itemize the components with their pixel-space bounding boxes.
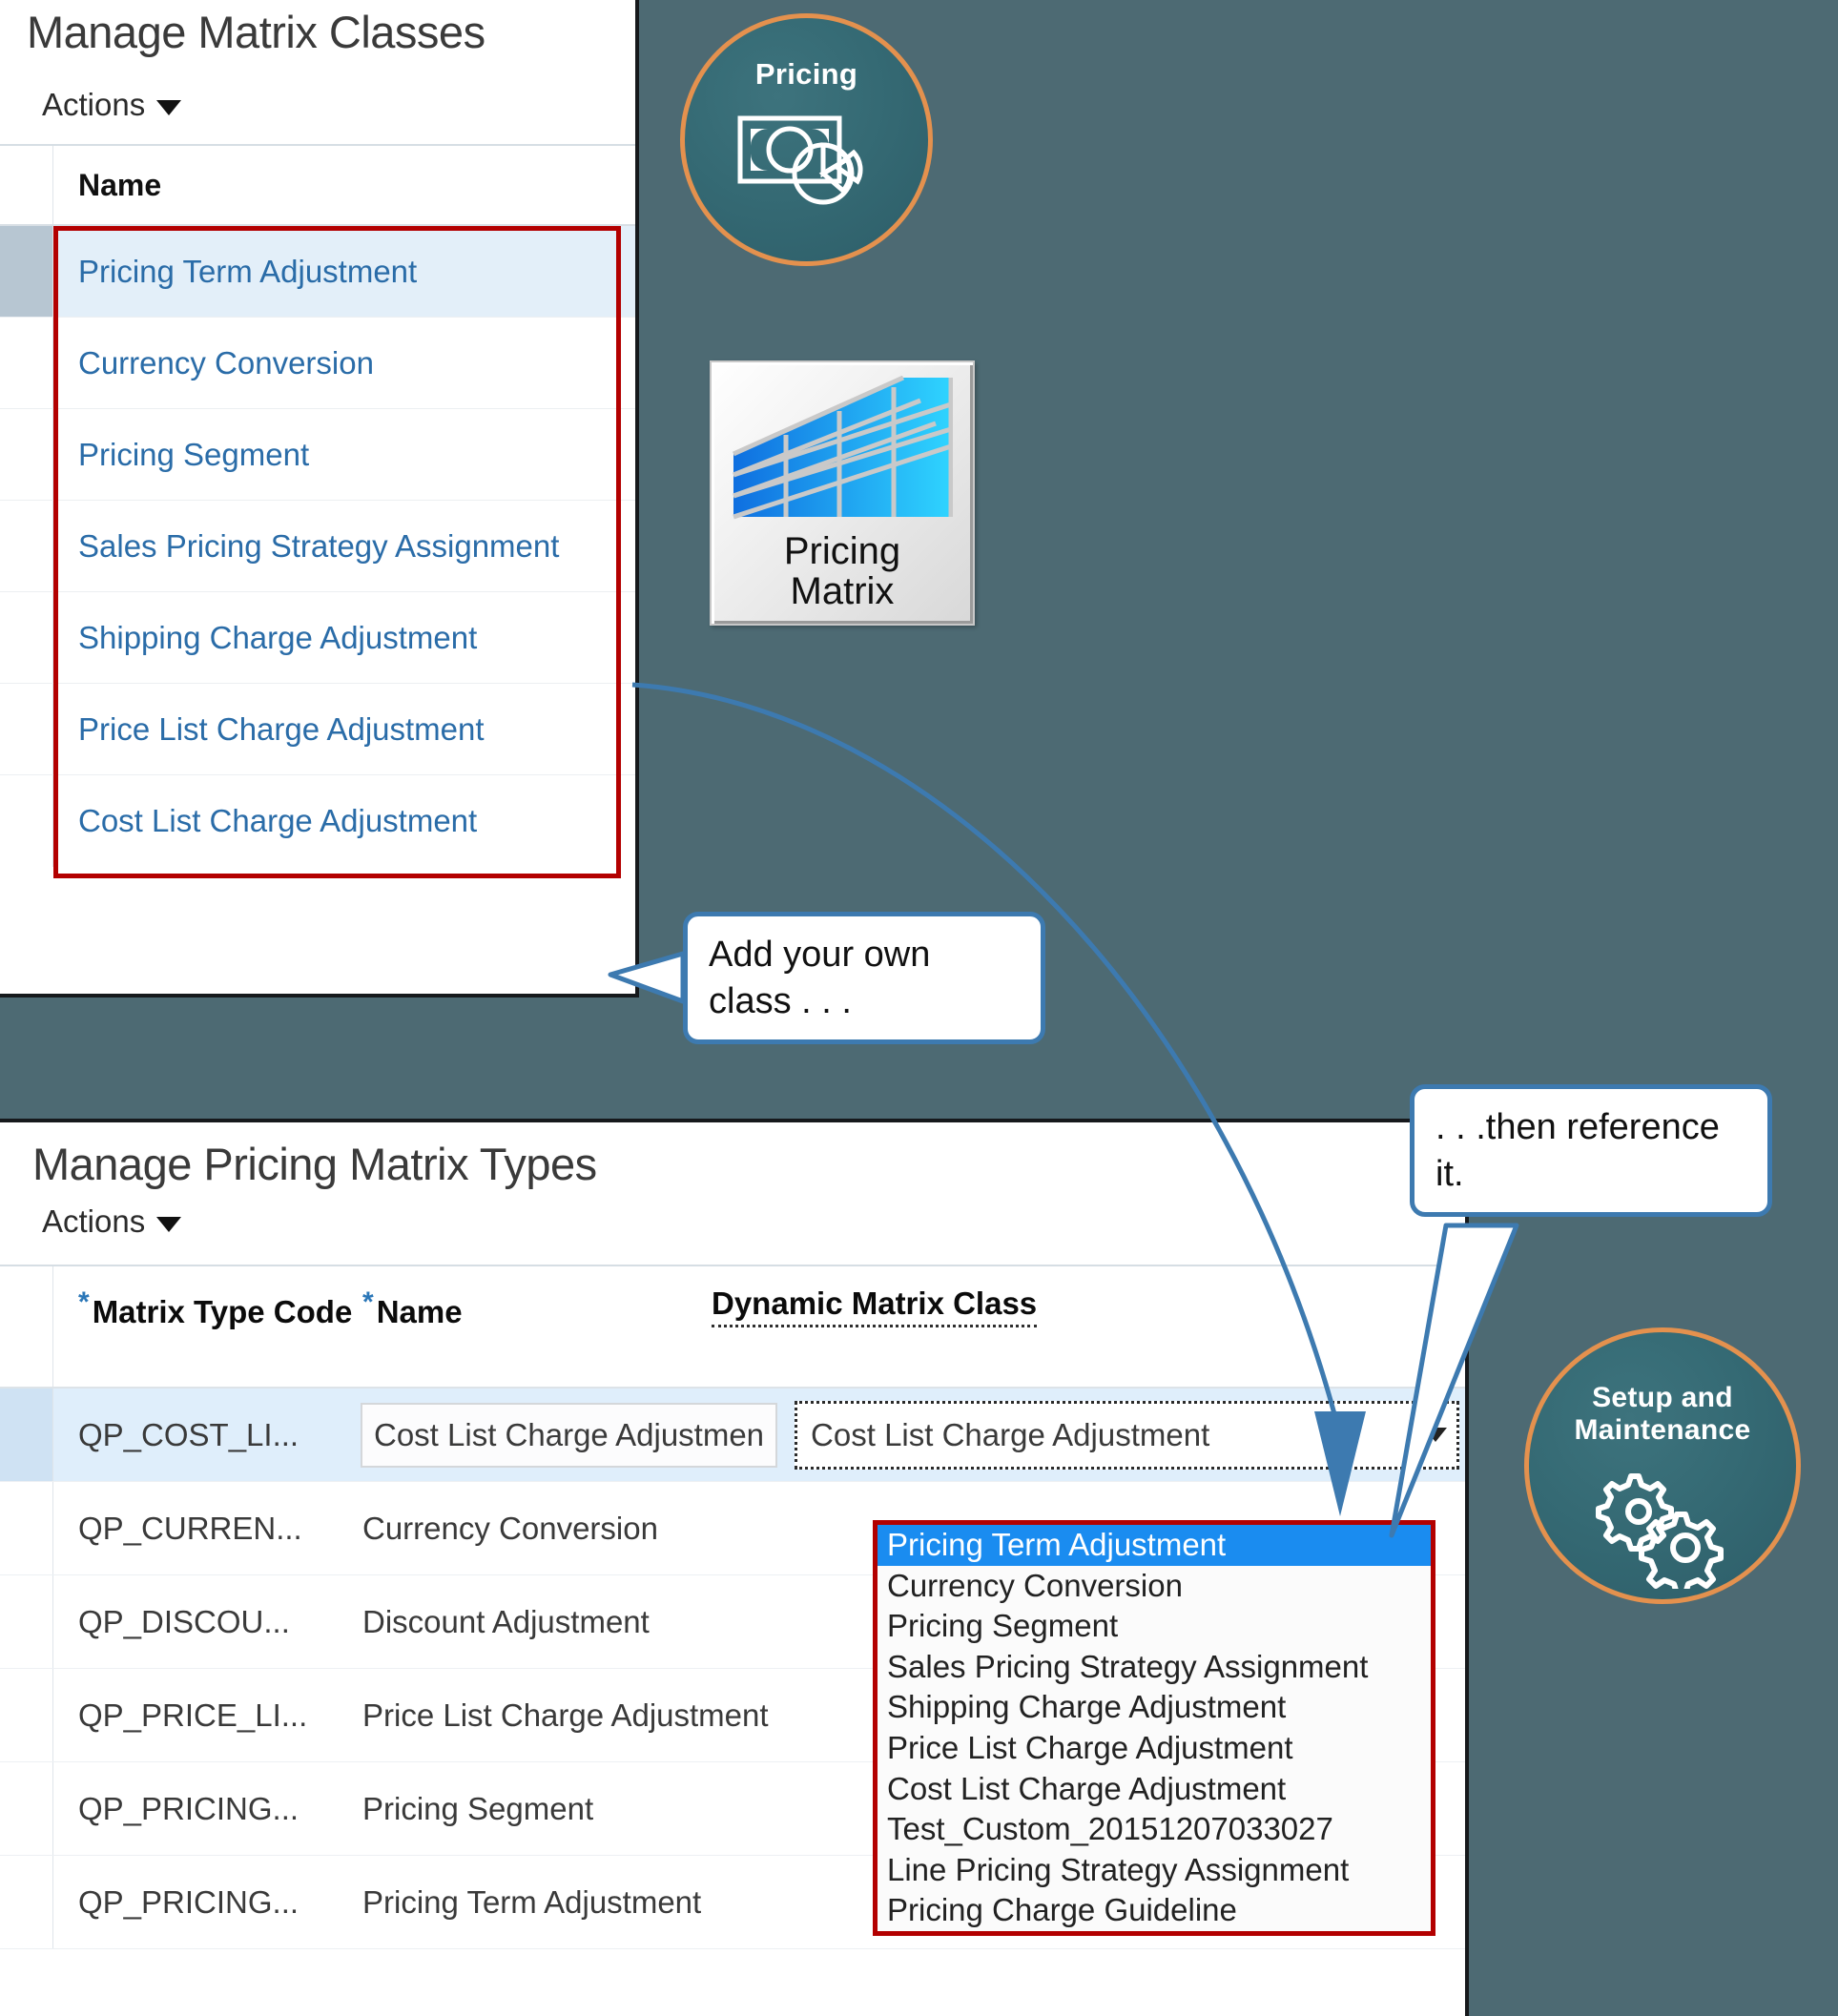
classes-table-header-row: Name	[0, 146, 635, 226]
dropdown-option[interactable]: Price List Charge Adjustment	[878, 1728, 1431, 1769]
table-row[interactable]: Currency Conversion	[0, 318, 635, 409]
required-asterisk-icon: *	[78, 1286, 90, 1318]
types-column-header-name: *Name	[355, 1266, 696, 1329]
dropdown-option[interactable]: Sales Pricing Strategy Assignment	[878, 1647, 1431, 1688]
table-row[interactable]: Sales Pricing Strategy Assignment	[0, 501, 635, 592]
classes-page-title: Manage Matrix Classes	[0, 0, 635, 58]
name-cell: Pricing Term Adjustment	[355, 1884, 701, 1921]
class-name-link[interactable]: Pricing Segment	[53, 437, 309, 473]
dropdown-option[interactable]: Test_Custom_20151207033027	[878, 1809, 1431, 1850]
name-cell: Currency Conversion	[355, 1511, 696, 1547]
money-pie-chart-icon	[735, 105, 878, 215]
matrix-type-code-cell: QP_PRICING...	[53, 1884, 355, 1921]
row-select-gutter[interactable]	[0, 226, 53, 317]
chevron-down-icon	[156, 1217, 181, 1232]
setup-and-maintenance-badge[interactable]: Setup and Maintenance	[1524, 1327, 1801, 1604]
table-row[interactable]: Price List Charge Adjustment	[0, 684, 635, 775]
name-cell: Price List Charge Adjustment	[355, 1697, 769, 1734]
dropdown-option[interactable]: Pricing Term Adjustment	[878, 1525, 1431, 1566]
classes-actions-label: Actions	[42, 87, 145, 123]
pricing-badge-label: Pricing	[755, 58, 857, 92]
types-actions-menu[interactable]: Actions	[0, 1190, 1465, 1240]
screenshot-canvas: Manage Matrix Classes Actions Name Prici…	[0, 0, 1838, 2016]
dynamic-matrix-class-wrapper: Cost List Charge Adjustment	[783, 1401, 1465, 1470]
matrix-type-code-cell: QP_PRICE_LI...	[53, 1697, 355, 1734]
row-select-gutter[interactable]	[0, 501, 53, 591]
gears-icon	[1586, 1455, 1739, 1594]
name-cell: Pricing Segment	[355, 1791, 696, 1827]
dynamic-matrix-class-dropdown[interactable]: Pricing Term Adjustment Currency Convers…	[873, 1520, 1435, 1936]
table-row[interactable]: QP_COST_LI... Cost List Charge Adjustmen…	[0, 1389, 1465, 1482]
pricing-offering-badge[interactable]: Pricing	[680, 13, 933, 266]
matrix-type-code-cell: QP_DISCOU...	[53, 1604, 355, 1640]
row-select-gutter[interactable]	[0, 318, 53, 408]
types-column-header-code: *Matrix Type Code	[53, 1266, 355, 1329]
manage-matrix-classes-window: Manage Matrix Classes Actions Name Prici…	[0, 0, 639, 998]
dropdown-option[interactable]: Cost List Charge Adjustment	[878, 1769, 1431, 1810]
row-select-gutter	[0, 1266, 53, 1387]
row-select-gutter[interactable]	[0, 1669, 53, 1761]
callout-reference-text: . . .then reference it.	[1435, 1107, 1720, 1194]
name-field-wrapper: Cost List Charge Adjustmen	[355, 1403, 783, 1468]
pricing-matrix-tile-label: Pricing Matrix	[784, 531, 900, 612]
classes-actions-menu[interactable]: Actions	[0, 58, 635, 123]
dropdown-option[interactable]: Line Pricing Strategy Assignment	[878, 1850, 1431, 1891]
callout-add-your-own-class: Add your own class . . .	[683, 912, 1045, 1044]
types-column-header-dynamic-class: Dynamic Matrix Class	[696, 1266, 1465, 1327]
types-actions-label: Actions	[42, 1203, 145, 1240]
required-asterisk-icon: *	[362, 1286, 374, 1318]
dropdown-option[interactable]: Pricing Segment	[878, 1606, 1431, 1647]
class-name-link[interactable]: Shipping Charge Adjustment	[53, 620, 477, 656]
table-row[interactable]: Cost List Charge Adjustment	[0, 775, 635, 867]
row-select-gutter[interactable]	[0, 1762, 53, 1855]
matrix-type-code-cell: QP_COST_LI...	[53, 1417, 355, 1453]
name-cell: Discount Adjustment	[355, 1604, 696, 1640]
row-select-gutter[interactable]	[0, 1856, 53, 1948]
dropdown-option[interactable]: Pricing Charge Guideline	[878, 1890, 1431, 1931]
dropdown-option[interactable]: Currency Conversion	[878, 1566, 1431, 1607]
name-input[interactable]: Cost List Charge Adjustmen	[361, 1403, 777, 1468]
dropdown-option[interactable]: Shipping Charge Adjustment	[878, 1687, 1431, 1728]
table-row[interactable]: Pricing Term Adjustment	[0, 226, 635, 318]
matrix-type-code-cell: QP_CURREN...	[53, 1511, 355, 1547]
dynamic-matrix-class-select[interactable]: Cost List Charge Adjustment	[795, 1401, 1459, 1470]
types-page-title: Manage Pricing Matrix Types	[0, 1122, 1465, 1190]
table-row[interactable]: Pricing Segment	[0, 409, 635, 501]
callout-then-reference-it: . . .then reference it.	[1410, 1084, 1772, 1217]
class-name-link[interactable]: Sales Pricing Strategy Assignment	[53, 528, 559, 565]
class-name-link[interactable]: Pricing Term Adjustment	[53, 254, 417, 290]
row-select-gutter	[0, 146, 53, 224]
pricing-matrix-grid-icon	[732, 376, 953, 525]
class-name-link[interactable]: Currency Conversion	[53, 345, 374, 381]
row-select-gutter[interactable]	[0, 1575, 53, 1668]
row-select-gutter[interactable]	[0, 592, 53, 683]
row-select-gutter[interactable]	[0, 1482, 53, 1574]
chevron-down-icon	[156, 100, 181, 115]
pricing-matrix-tile[interactable]: Pricing Matrix	[710, 360, 975, 626]
dynamic-matrix-class-value: Cost List Charge Adjustment	[811, 1417, 1209, 1453]
row-select-gutter[interactable]	[0, 775, 53, 867]
types-table-header-row: *Matrix Type Code *Name Dynamic Matrix C…	[0, 1266, 1465, 1389]
classes-table: Name Pricing Term Adjustment Currency Co…	[0, 144, 635, 867]
classes-column-header-name: Name	[53, 168, 161, 203]
row-select-gutter[interactable]	[0, 409, 53, 500]
chevron-down-icon[interactable]	[1424, 1428, 1447, 1442]
class-name-link[interactable]: Cost List Charge Adjustment	[53, 803, 477, 839]
row-select-gutter[interactable]	[0, 684, 53, 774]
setup-badge-label: Setup and Maintenance	[1574, 1382, 1750, 1446]
class-name-link[interactable]: Price List Charge Adjustment	[53, 711, 485, 748]
row-select-gutter[interactable]	[0, 1389, 53, 1481]
callout-add-text: Add your own class . . .	[709, 935, 930, 1021]
table-row[interactable]: Shipping Charge Adjustment	[0, 592, 635, 684]
matrix-type-code-cell: QP_PRICING...	[53, 1791, 355, 1827]
